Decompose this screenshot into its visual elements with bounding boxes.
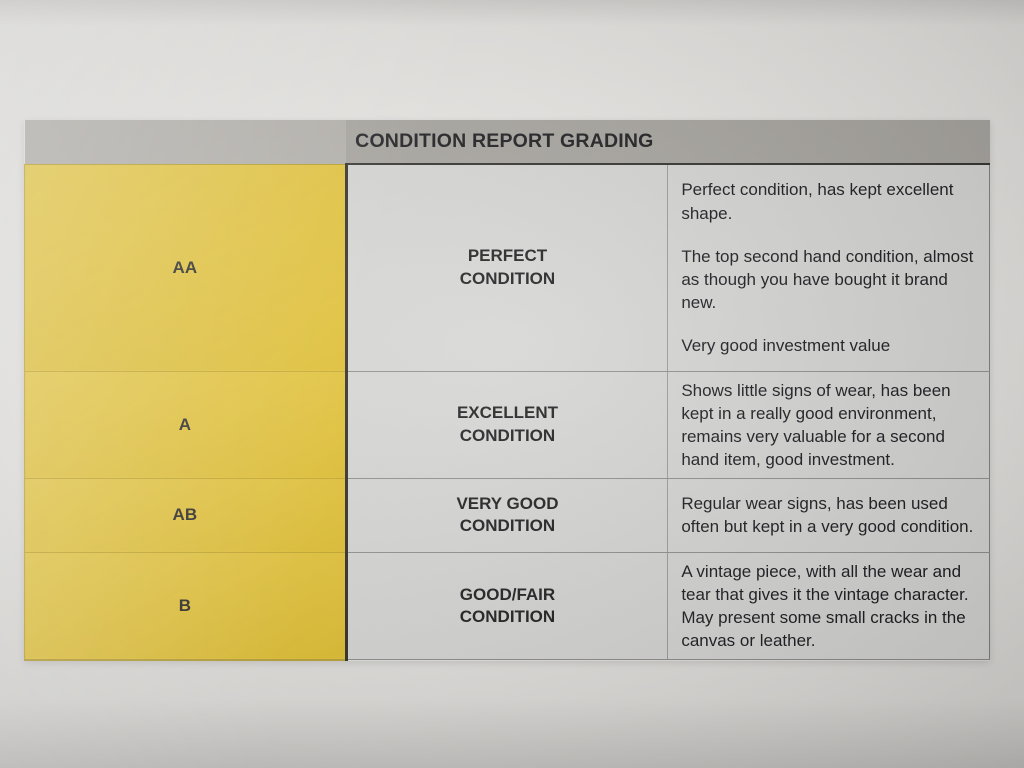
grade-code-a: A (25, 371, 347, 478)
page-top-shading (0, 0, 1024, 26)
condition-name-a: EXCELLENT CONDITION (346, 371, 668, 478)
table-row: AB VERY GOOD CONDITION Regular wear sign… (25, 478, 990, 552)
page-bottom-shading (0, 698, 1024, 768)
description-paragraph: Regular wear signs, has been used often … (681, 492, 977, 538)
description-paragraph: A vintage piece, with all the wear and t… (681, 560, 977, 652)
condition-name-line-2: CONDITION (460, 269, 555, 288)
description-paragraph: Perfect condition, has kept excellent sh… (681, 178, 977, 224)
description-paragraph: The top second hand condition, almost as… (681, 245, 977, 314)
condition-name-line-2: CONDITION (460, 607, 555, 626)
page-title: CONDITION REPORT GRADING (355, 130, 653, 153)
table-body: AA PERFECT CONDITION Perfect condition, … (25, 164, 990, 660)
condition-report-grading-table: CONDITION REPORT GRADING AA PERFECT COND… (24, 120, 990, 661)
condition-name-line-1: PERFECT (468, 246, 547, 265)
table-row: A EXCELLENT CONDITION Shows little signs… (25, 371, 990, 478)
table-row: B GOOD/FAIR CONDITION A vintage piece, w… (25, 552, 990, 659)
table-row: AA PERFECT CONDITION Perfect condition, … (25, 164, 990, 371)
photographed-document: CONDITION REPORT GRADING AA PERFECT COND… (0, 0, 1024, 768)
grade-code-b: B (25, 552, 347, 659)
description-paragraph: Very good investment value (681, 334, 977, 357)
header-title-cell: CONDITION REPORT GRADING (346, 120, 989, 164)
condition-name-line-1: VERY GOOD (456, 494, 558, 513)
description-b: A vintage piece, with all the wear and t… (668, 552, 990, 659)
description-ab: Regular wear signs, has been used often … (668, 478, 990, 552)
condition-name-line-2: CONDITION (460, 426, 555, 445)
condition-name-ab: VERY GOOD CONDITION (346, 478, 668, 552)
description-paragraph: Shows little signs of wear, has been kep… (681, 379, 977, 471)
grade-code-aa: AA (25, 164, 347, 371)
header-grade-column-blank (25, 120, 347, 164)
condition-name-line-1: EXCELLENT (457, 403, 558, 422)
table-header-row: CONDITION REPORT GRADING (25, 120, 990, 164)
grade-code-ab: AB (25, 478, 347, 552)
condition-name-b: GOOD/FAIR CONDITION (346, 552, 668, 659)
description-a: Shows little signs of wear, has been kep… (668, 371, 990, 478)
condition-name-aa: PERFECT CONDITION (346, 164, 668, 371)
table-header: CONDITION REPORT GRADING (25, 120, 990, 164)
condition-name-line-1: GOOD/FAIR (460, 585, 555, 604)
condition-name-line-2: CONDITION (460, 516, 555, 535)
description-aa: Perfect condition, has kept excellent sh… (668, 164, 990, 371)
